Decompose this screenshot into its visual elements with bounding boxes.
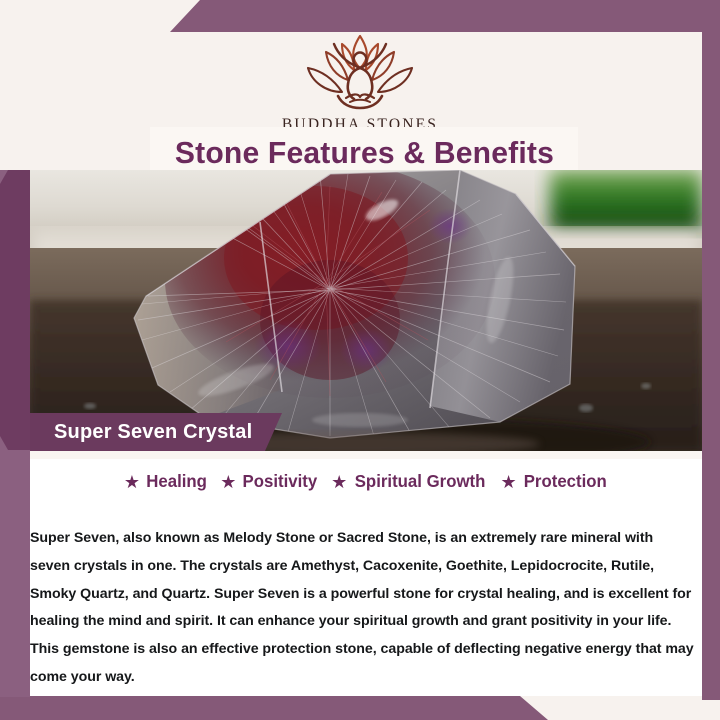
star-icon: ★ [331,473,347,491]
brand-logo: BUDDHA STONES [0,26,720,134]
content-top-spacer [30,451,702,459]
benefit-label: Spiritual Growth [355,471,486,492]
infographic-card: BUDDHA STONES Stone Features & Benefits [0,0,720,720]
frame-left-bevel [0,170,30,450]
lotus-meditation-icon [280,26,440,114]
benefit-label: Protection [523,471,606,492]
frame-bottom-band [0,696,720,720]
star-icon: ★ [500,473,516,491]
hero-image: Super Seven Crystal [30,170,702,451]
hero-label-banner: Super Seven Crystal [30,413,292,451]
benefit-label: Healing [146,471,207,492]
benefit-item-protection: ★ Protection [500,471,608,492]
star-icon: ★ [220,473,236,491]
benefit-item-positivity: ★ Positivity [220,471,319,492]
super-seven-crystal-photo [30,170,702,451]
benefit-label: Positivity [243,471,318,492]
hero-label-text: Super Seven Crystal [54,421,252,444]
page-title: Stone Features & Benefits [174,135,553,171]
benefits-row: ★ Healing ★ Positivity ★ Spiritual Growt… [30,471,702,492]
content-section: ★ Healing ★ Positivity ★ Spiritual Growt… [30,451,702,696]
benefit-item-healing: ★ Healing [124,471,208,492]
description-paragraph: Super Seven, also known as Melody Stone … [30,525,702,691]
frame-right-band [702,0,720,700]
benefit-item-spiritual-growth: ★ Spiritual Growth [331,471,488,492]
star-icon: ★ [124,473,140,491]
